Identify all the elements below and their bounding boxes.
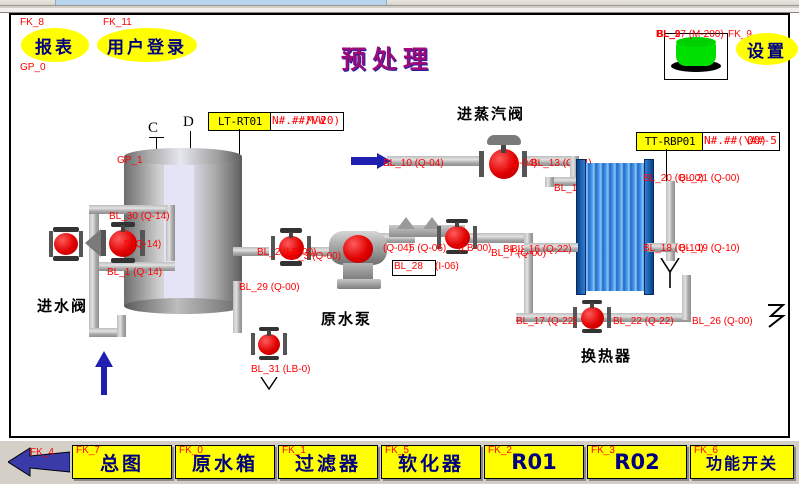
lamp-overlay-tag-bl9: BL_9 — [656, 29, 680, 40]
instrument-lt-rt01-value[interactable]: N#.##/VW M-20) — [270, 112, 344, 131]
tag-bl29: BL_29 (Q-00) — [239, 282, 300, 293]
nav-button-raw-water-tank[interactable]: FK_0 原水箱 — [175, 445, 275, 479]
page-title: 预处理 — [341, 40, 434, 76]
tag-bl30: BL_30 (Q-14) — [109, 211, 170, 222]
valve-drain[interactable] — [249, 325, 289, 363]
label-heat-exchanger: 换热器 — [581, 345, 632, 366]
tag-bl26: BL_26 (Q-00) — [692, 316, 753, 327]
fk-tag-report: FK_8 — [20, 17, 44, 28]
chrome-seam — [0, 5, 799, 6]
y-strainer-icon — [657, 258, 683, 288]
fk-tag-function-switch: FK_6 — [694, 445, 718, 456]
valve-return[interactable] — [571, 299, 613, 335]
status-lamp[interactable] — [664, 33, 728, 80]
nav-button-filter[interactable]: FK_1 过滤器 — [278, 445, 378, 479]
tag-bl28-suffix: (I-06) — [435, 261, 459, 272]
instrument-tt-rbp01-value[interactable]: N#.##(\##-5 00) — [702, 132, 780, 151]
instrument-tt-rbp01[interactable]: TT-RBP01 — [636, 132, 704, 151]
fk-tag-login: FK_11 — [103, 17, 132, 28]
pipe-hx-top-elbow — [545, 177, 554, 187]
flow-meter-icon — [765, 303, 787, 329]
settings-button-label: 设置 — [747, 37, 787, 62]
lt-rt01-value-text2: M-20) — [307, 114, 340, 127]
tank-tag: GP_1 — [117, 155, 143, 166]
heat-exchanger-cap-left — [576, 159, 586, 295]
tag-bl10: BL_10 (Q-04) — [383, 158, 444, 169]
tag-bl17: BL_17 (Q-22) — [516, 316, 577, 327]
dimension-tick-c — [149, 137, 164, 138]
pipe-bottom-right-riser — [682, 275, 691, 320]
instrument-tt-rbp01-label: TT-RBP01 — [645, 135, 696, 148]
pipe-tank-drop — [117, 315, 126, 337]
fk-tag-overview: FK_7 — [76, 445, 100, 456]
fk-tag-r02: FK_3 — [591, 445, 615, 456]
bottom-toolbar: FK_4 FK_7 总图 FK_0 原水箱 FK_1 过滤器 FK_5 软化器 … — [0, 440, 799, 484]
instrument-lt-rt01[interactable]: LT-RT01 — [208, 112, 272, 131]
user-login-button[interactable]: 用户登录 — [97, 28, 197, 62]
tt-rbp01-value-text2: 00) — [747, 134, 767, 147]
valve-inlet-left[interactable] — [45, 227, 89, 261]
nav-button-overview-label: 总图 — [100, 449, 144, 476]
nav-button-r01-label: R01 — [511, 450, 556, 474]
dimension-label-d: D — [183, 114, 194, 131]
nav-button-softener[interactable]: FK_5 软化器 — [381, 445, 481, 479]
window-chrome — [0, 0, 799, 8]
fk-tag-softener: FK_5 — [385, 445, 409, 456]
tag-bl19: BL_19 (Q-10) — [679, 243, 740, 254]
process-canvas: FK_8 报表 GP_0 FK_11 用户登录 预处理 BL_27 (M-200… — [9, 13, 790, 438]
report-button[interactable]: 报表 — [21, 28, 89, 62]
label-inlet-valve: 进水阀 — [37, 295, 88, 316]
fk-tag-back: FK_4 — [30, 447, 54, 458]
tag-bl15: 5 (Q-06) — [409, 243, 446, 254]
report-button-label: 报表 — [35, 33, 75, 58]
tag-bl28-box[interactable]: BL_28 — [392, 260, 436, 276]
tank-bottom-cap — [124, 298, 242, 314]
tag-bl16: BL_16 (Q-22) — [511, 244, 572, 255]
tag-bl4: (Q-04) — [383, 243, 412, 254]
settings-button[interactable]: 设置 — [736, 33, 798, 65]
drain-symbol-icon — [259, 377, 279, 391]
nav-button-overview[interactable]: FK_7 总图 — [72, 445, 172, 479]
user-login-button-label: 用户登录 — [107, 33, 187, 58]
fk-tag-filter: FK_1 — [282, 445, 306, 456]
heat-exchanger-coil — [582, 163, 648, 291]
instrument-lt-rt01-label: LT-RT01 — [218, 115, 262, 128]
nav-button-r01[interactable]: FK_2 R01 — [484, 445, 584, 479]
label-raw-water-pump: 原水泵 — [321, 308, 372, 329]
raw-water-pump[interactable] — [329, 227, 389, 297]
tag-bl6: (LB-00) — [458, 243, 491, 254]
nav-button-r02-label: R02 — [614, 450, 659, 474]
flow-arrow-up-icon — [93, 351, 115, 395]
label-steam-inlet-valve: 进蒸汽阀 — [457, 103, 525, 124]
tag-bl21: BL_21 (Q-00) — [679, 173, 740, 184]
tag-bl31: BL_31 (LB-0) — [251, 364, 310, 375]
pipe-inlet-down — [89, 262, 99, 337]
tag-bl28: BL_28 — [394, 261, 423, 272]
nav-button-r02[interactable]: FK_3 R02 — [587, 445, 687, 479]
tag-bl22: BL_22 (Q-22) — [613, 316, 674, 327]
gp-tag: GP_0 — [20, 62, 46, 73]
fk-tag-raw-water-tank: FK_0 — [179, 445, 203, 456]
tag-bl3: BL_3 (Q-00) — [286, 251, 341, 262]
tag-bl5: 5 (Q-14) — [124, 239, 161, 250]
fk-tag-r01: FK_2 — [488, 445, 512, 456]
dimension-label-c: C — [148, 120, 158, 137]
hmi-screen: FK_8 报表 GP_0 FK_11 用户登录 预处理 BL_27 (M-200… — [0, 0, 799, 484]
tag-bl1: BL_1 (Q-14) — [107, 267, 162, 278]
nav-button-function-switch[interactable]: FK_6 功能开关 — [690, 445, 794, 479]
